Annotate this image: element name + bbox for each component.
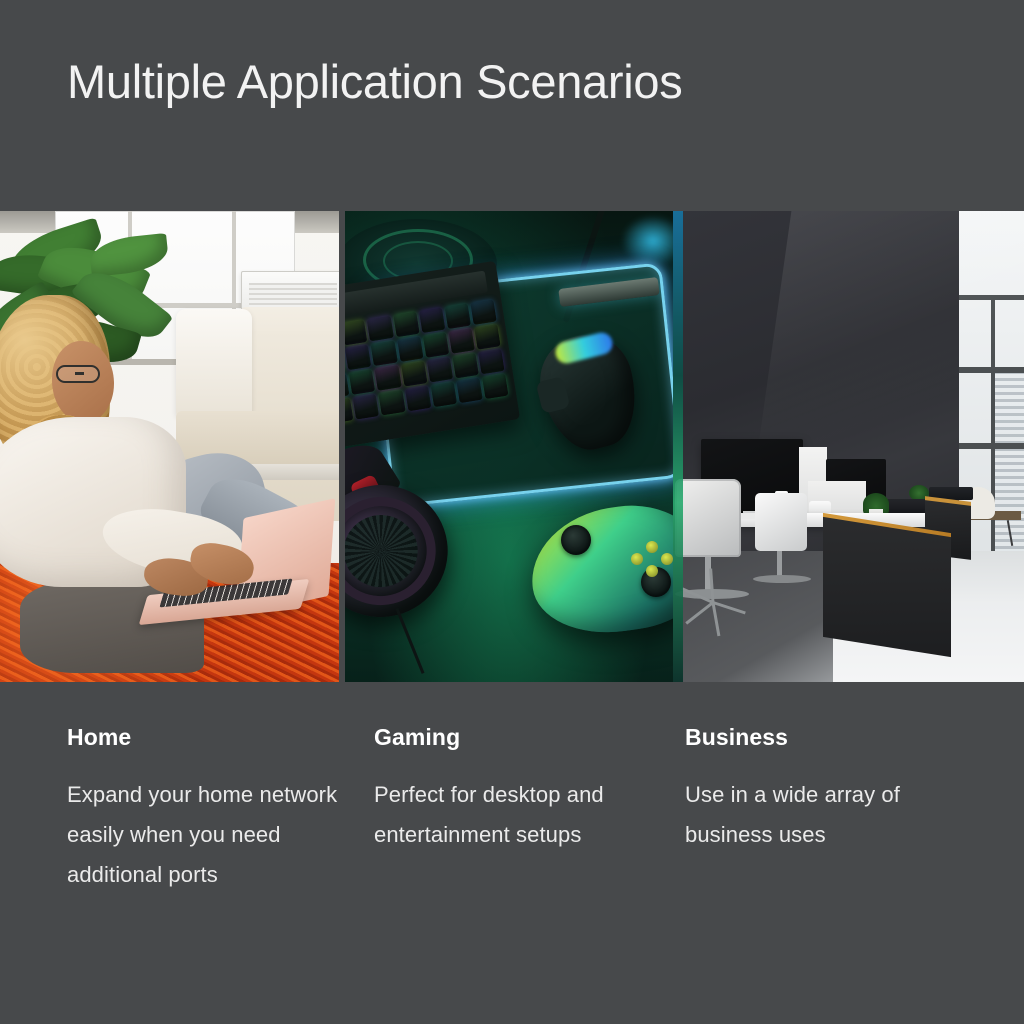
- home-scene: [0, 211, 339, 682]
- keyboard-key: [405, 386, 431, 411]
- gaming-headset-icon: [345, 445, 498, 645]
- keyboard-key: [478, 349, 504, 374]
- person-with-laptop: [0, 295, 324, 682]
- scenario-image-gaming: [345, 211, 673, 682]
- office-chair-legs: [673, 595, 759, 617]
- keyboard-key: [430, 382, 456, 407]
- keyboard-key: [470, 300, 496, 325]
- caption-body-gaming: Perfect for desktop and entertainment se…: [374, 775, 642, 855]
- caption-home: Home Expand your home network easily whe…: [67, 726, 342, 895]
- keyboard-key: [367, 316, 393, 341]
- keyboard-key: [423, 332, 449, 357]
- office-chair-second: [755, 493, 807, 551]
- eyeglasses-icon: [56, 365, 100, 383]
- caption-gaming: Gaming Perfect for desktop and entertain…: [374, 726, 642, 855]
- keyboard-key: [452, 353, 478, 378]
- chair-leg: [713, 601, 746, 614]
- panel-edge-bleed: [673, 211, 683, 682]
- controller-stick-left: [561, 525, 591, 555]
- keyboard-key: [401, 361, 427, 386]
- keyboard-key: [456, 378, 482, 403]
- scenario-captions: Home Expand your home network easily whe…: [0, 726, 1024, 966]
- caption-title-business: Business: [685, 726, 975, 749]
- office-chair-main: [675, 479, 741, 557]
- caption-title-gaming: Gaming: [374, 726, 642, 749]
- keyboard-key: [397, 337, 423, 362]
- scenario-image-strip: [0, 211, 1024, 682]
- caption-business: Business Use in a wide array of business…: [685, 726, 975, 855]
- keyboard-keys: [345, 300, 510, 437]
- keyboard-key: [349, 369, 375, 394]
- keyboard-key: [379, 390, 405, 415]
- gaming-blue-glow: [621, 215, 673, 267]
- keyboard-key: [345, 320, 368, 345]
- slide-root: Multiple Application Scenarios: [0, 0, 1024, 1024]
- keyboard-key: [353, 394, 379, 419]
- controller-button: [661, 553, 673, 565]
- keyboard-key: [448, 328, 474, 353]
- keyboard-key: [474, 324, 500, 349]
- controller-button: [631, 553, 643, 565]
- keyboard-key: [375, 365, 401, 390]
- keyboard-key: [371, 341, 397, 366]
- controller-face-buttons: [631, 541, 673, 577]
- office-chair-base: [753, 575, 811, 583]
- keyboard-key: [427, 357, 453, 382]
- controller-button: [646, 541, 658, 553]
- keyboard-key: [445, 304, 471, 329]
- office-desk-body: [823, 517, 951, 657]
- caption-title-home: Home: [67, 726, 342, 749]
- caption-body-home: Expand your home network easily when you…: [67, 775, 342, 895]
- page-title: Multiple Application Scenarios: [67, 56, 682, 108]
- keyboard-key: [345, 398, 354, 423]
- keyboard-key: [419, 308, 445, 333]
- caption-body-business: Use in a wide array of business uses: [685, 775, 975, 855]
- keyboard-key: [393, 312, 419, 337]
- scenario-image-home: [0, 211, 339, 682]
- office-scene: [673, 211, 1024, 682]
- scenario-image-business: [673, 211, 1024, 682]
- keyboard-key: [345, 345, 371, 370]
- controller-button: [646, 565, 658, 577]
- gaming-scene: [345, 211, 673, 682]
- keyboard-key: [482, 374, 508, 399]
